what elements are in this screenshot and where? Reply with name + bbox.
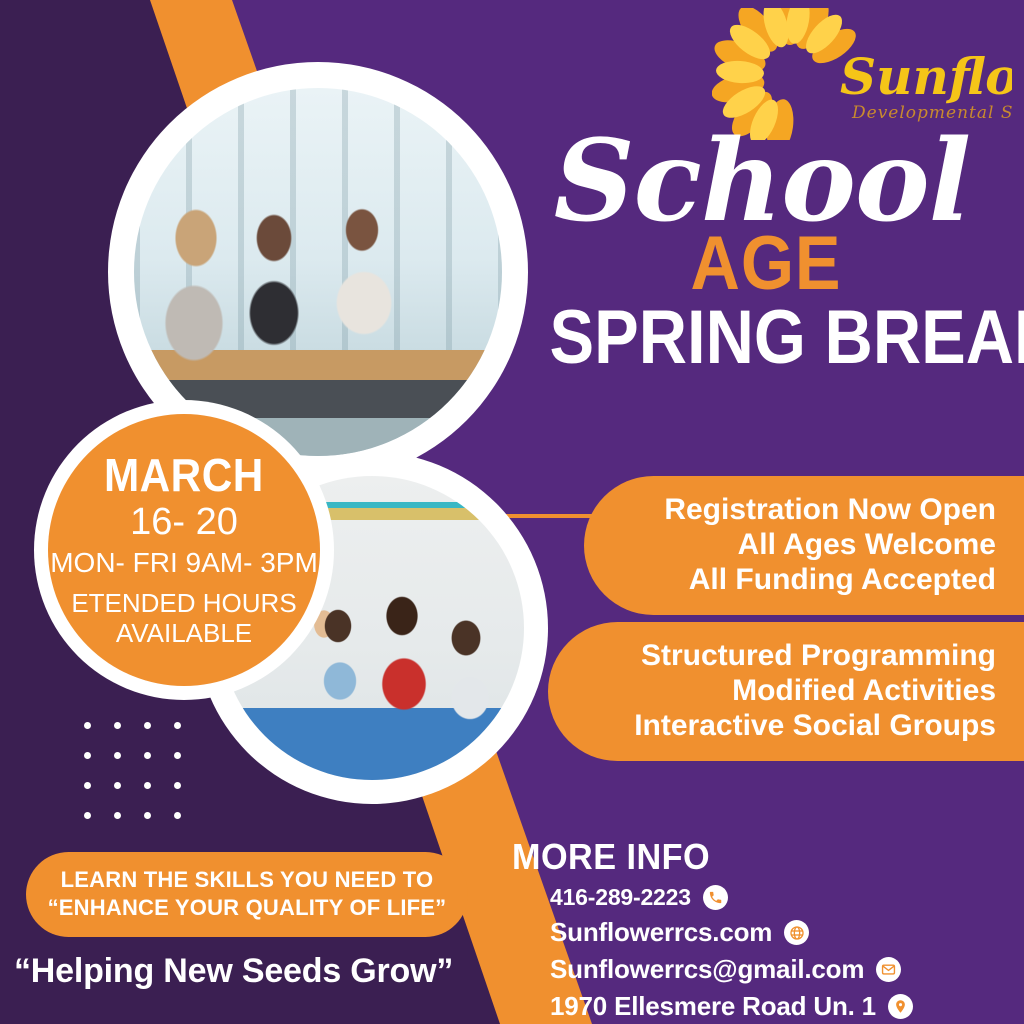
flyer-canvas: Sunflower Developmental Services School … xyxy=(0,0,1024,1024)
globe-icon xyxy=(784,920,809,945)
skills-line-2: “ENHANCE YOUR QUALITY OF LIFE” xyxy=(44,894,450,922)
date-extended-line2: AVAILABLE xyxy=(71,618,296,648)
headline-spring-break: SPRING BREAK xyxy=(550,302,983,374)
contact-email-text: Sunflowerrcs@gmail.com xyxy=(550,954,864,985)
contact-row-email[interactable]: Sunflowerrcs@gmail.com xyxy=(550,954,913,985)
email-icon xyxy=(876,957,901,982)
banner-2-line-3: Interactive Social Groups xyxy=(618,708,996,743)
contact-row-website[interactable]: Sunflowerrcs.com xyxy=(550,917,913,948)
logo-wordmark: Sunflower xyxy=(840,47,1012,106)
date-extended-line1: ETENDED HOURS xyxy=(71,588,296,618)
headline-age: AGE xyxy=(545,230,988,298)
contact-row-phone[interactable]: 416-289-2223 xyxy=(550,884,913,911)
skills-pill: LEARN THE SKILLS YOU NEED TO “ENHANCE YO… xyxy=(26,852,468,937)
date-hours: MON- FRI 9AM- 3PM xyxy=(50,549,318,578)
date-circle: MARCH 16- 20 MON- FRI 9AM- 3PM ETENDED H… xyxy=(34,400,334,700)
headline-school: School xyxy=(520,128,1004,236)
dot-grid-decoration xyxy=(84,722,204,842)
date-days: 16- 20 xyxy=(130,503,238,542)
banner-registration: Registration Now Open All Ages Welcome A… xyxy=(584,476,1024,615)
phone-icon xyxy=(703,885,728,910)
motto-text: “Helping New Seeds Grow” xyxy=(14,952,484,991)
banner-1-line-1: Registration Now Open xyxy=(654,492,996,527)
skills-line-1: LEARN THE SKILLS YOU NEED TO xyxy=(44,866,450,894)
banner-2-line-1: Structured Programming xyxy=(618,638,996,673)
banner-2-line-2: Modified Activities xyxy=(618,673,996,708)
banner-programming: Structured Programming Modified Activiti… xyxy=(548,622,1024,761)
contact-website-text: Sunflowerrcs.com xyxy=(550,917,772,948)
contact-block: MORE INFO 416-289-2223 Sunflowerrcs.com xyxy=(512,836,913,1022)
contact-heading: MORE INFO xyxy=(512,836,893,878)
banner-1-line-3: All Funding Accepted xyxy=(654,562,996,597)
contact-row-address[interactable]: 1970 Ellesmere Road Un. 1 xyxy=(550,991,913,1022)
contact-address-text: 1970 Ellesmere Road Un. 1 xyxy=(550,991,876,1022)
contact-phone-text: 416-289-2223 xyxy=(550,884,691,911)
headline-block: School AGE SPRING BREAK xyxy=(520,128,1012,374)
date-month: MARCH xyxy=(104,452,264,499)
location-pin-icon xyxy=(888,994,913,1019)
banner-1-line-2: All Ages Welcome xyxy=(654,527,996,562)
